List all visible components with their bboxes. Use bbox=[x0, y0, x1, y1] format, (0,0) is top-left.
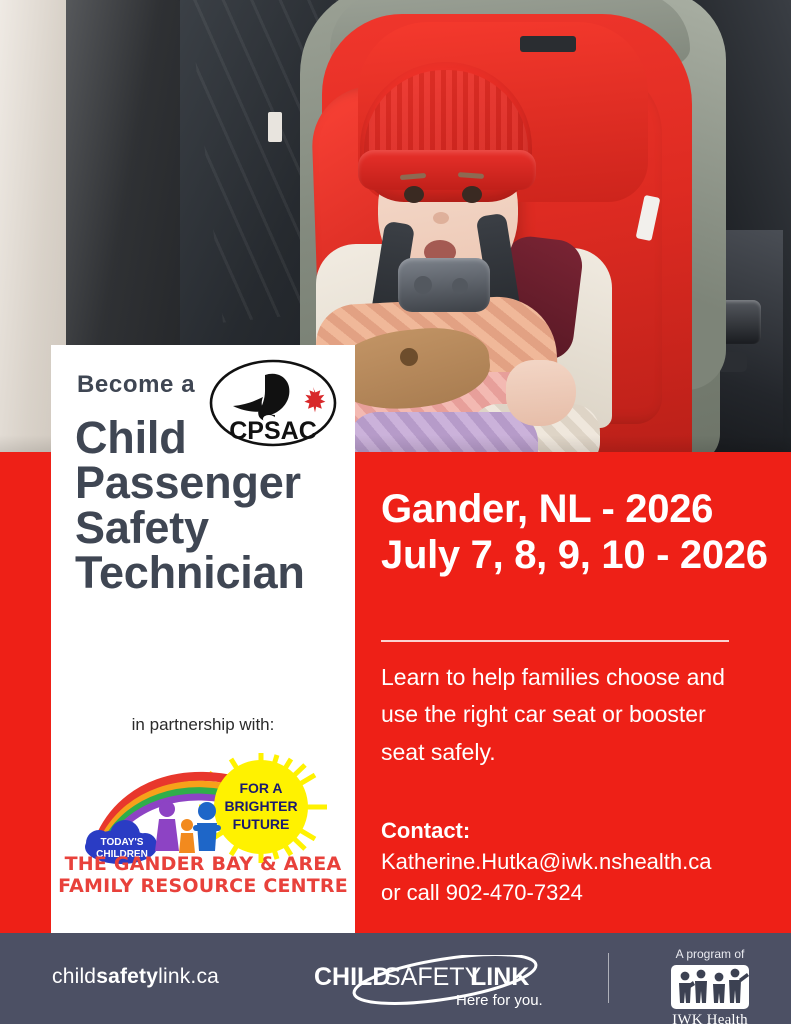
footer-divider bbox=[608, 953, 609, 1003]
website-suffix: link.ca bbox=[158, 965, 219, 988]
contact-email[interactable]: Katherine.Hutka@iwk.nshealth.ca bbox=[381, 846, 771, 877]
eyebrow-text: Become a bbox=[77, 371, 195, 399]
sun-text-line-2: BRIGHTER bbox=[224, 798, 297, 814]
photo-child-hat-brim bbox=[358, 150, 536, 190]
partner-organization-name: THE GANDER BAY & AREA FAMILY RESOURCE CE… bbox=[57, 853, 349, 898]
iwk-health-figures-logo bbox=[671, 965, 749, 1009]
contact-details: Katherine.Hutka@iwk.nshealth.ca or call … bbox=[381, 846, 771, 908]
page-title: Child Passenger Safety Technician bbox=[75, 415, 335, 595]
family-resource-centre-logo: FOR A BRIGHTER FUTURE TODAY'S CHILDREN bbox=[75, 749, 331, 865]
event-dates: July 7, 8, 9, 10 - 2026 bbox=[381, 532, 773, 578]
sun-text-line-3: FUTURE bbox=[233, 816, 290, 832]
brand-tagline: Here for you. bbox=[456, 992, 543, 1009]
divider bbox=[381, 640, 729, 642]
photo-car-seat-badge bbox=[520, 36, 576, 52]
headline-line-2: Passenger bbox=[75, 460, 335, 505]
event-location: Gander, NL - 2026 bbox=[381, 486, 773, 532]
program-label: A program of bbox=[640, 947, 780, 961]
iwk-health-name: IWK Health bbox=[640, 1012, 780, 1024]
cloud-text-line-1: TODAY'S bbox=[101, 837, 144, 848]
partner-name-line-2: FAMILY RESOURCE CENTRE bbox=[57, 875, 349, 897]
poster: Become a CPSAC Child Passenger Safety Te… bbox=[0, 0, 791, 1024]
headline-line-1: Child bbox=[75, 415, 335, 460]
sun-text-line-1: FOR A bbox=[239, 780, 282, 796]
contact-heading: Contact: bbox=[381, 818, 470, 844]
website-prefix: child bbox=[52, 965, 96, 988]
headline-line-3: Safety bbox=[75, 505, 335, 550]
brand-part-1: CHILD bbox=[314, 963, 390, 991]
iwk-health-block: A program of IWK Health bbox=[640, 947, 780, 1024]
website-bold: safety bbox=[96, 965, 158, 988]
photo-plush-toy-eye bbox=[400, 348, 418, 366]
photo-child-nose bbox=[433, 212, 449, 224]
photo-car-seat-label-tag-left bbox=[268, 112, 282, 142]
event-description: Learn to help families choose and use th… bbox=[381, 659, 747, 771]
brand-part-2: SAFETY bbox=[384, 963, 482, 991]
photo-chest-clip-button bbox=[414, 276, 432, 294]
photo-chest-clip-latch bbox=[452, 278, 468, 294]
photo-child-hand bbox=[506, 360, 576, 426]
footer-website-link[interactable]: childsafetylink.ca bbox=[52, 965, 219, 989]
brand-part-3: LINK bbox=[471, 963, 529, 991]
partner-name-line-1: THE GANDER BAY & AREA bbox=[57, 853, 349, 875]
photo-harness-chest-clip bbox=[398, 258, 490, 312]
photo-child-right-eye bbox=[462, 186, 482, 203]
partnership-label: in partnership with: bbox=[51, 715, 355, 735]
event-details: Gander, NL - 2026 July 7, 8, 9, 10 - 202… bbox=[381, 486, 773, 579]
white-info-card: Become a CPSAC Child Passenger Safety Te… bbox=[51, 345, 355, 933]
headline-line-4: Technician bbox=[75, 550, 335, 595]
footer-bar: childsafetylink.ca CHILD SAFETY LINK Her… bbox=[0, 933, 791, 1024]
contact-phone[interactable]: or call 902-470-7324 bbox=[381, 877, 771, 908]
child-safety-link-logo: CHILD SAFETY LINK Here for you. bbox=[310, 955, 580, 1009]
family-figures-icon bbox=[155, 801, 221, 853]
photo-child-left-eye bbox=[404, 186, 424, 203]
